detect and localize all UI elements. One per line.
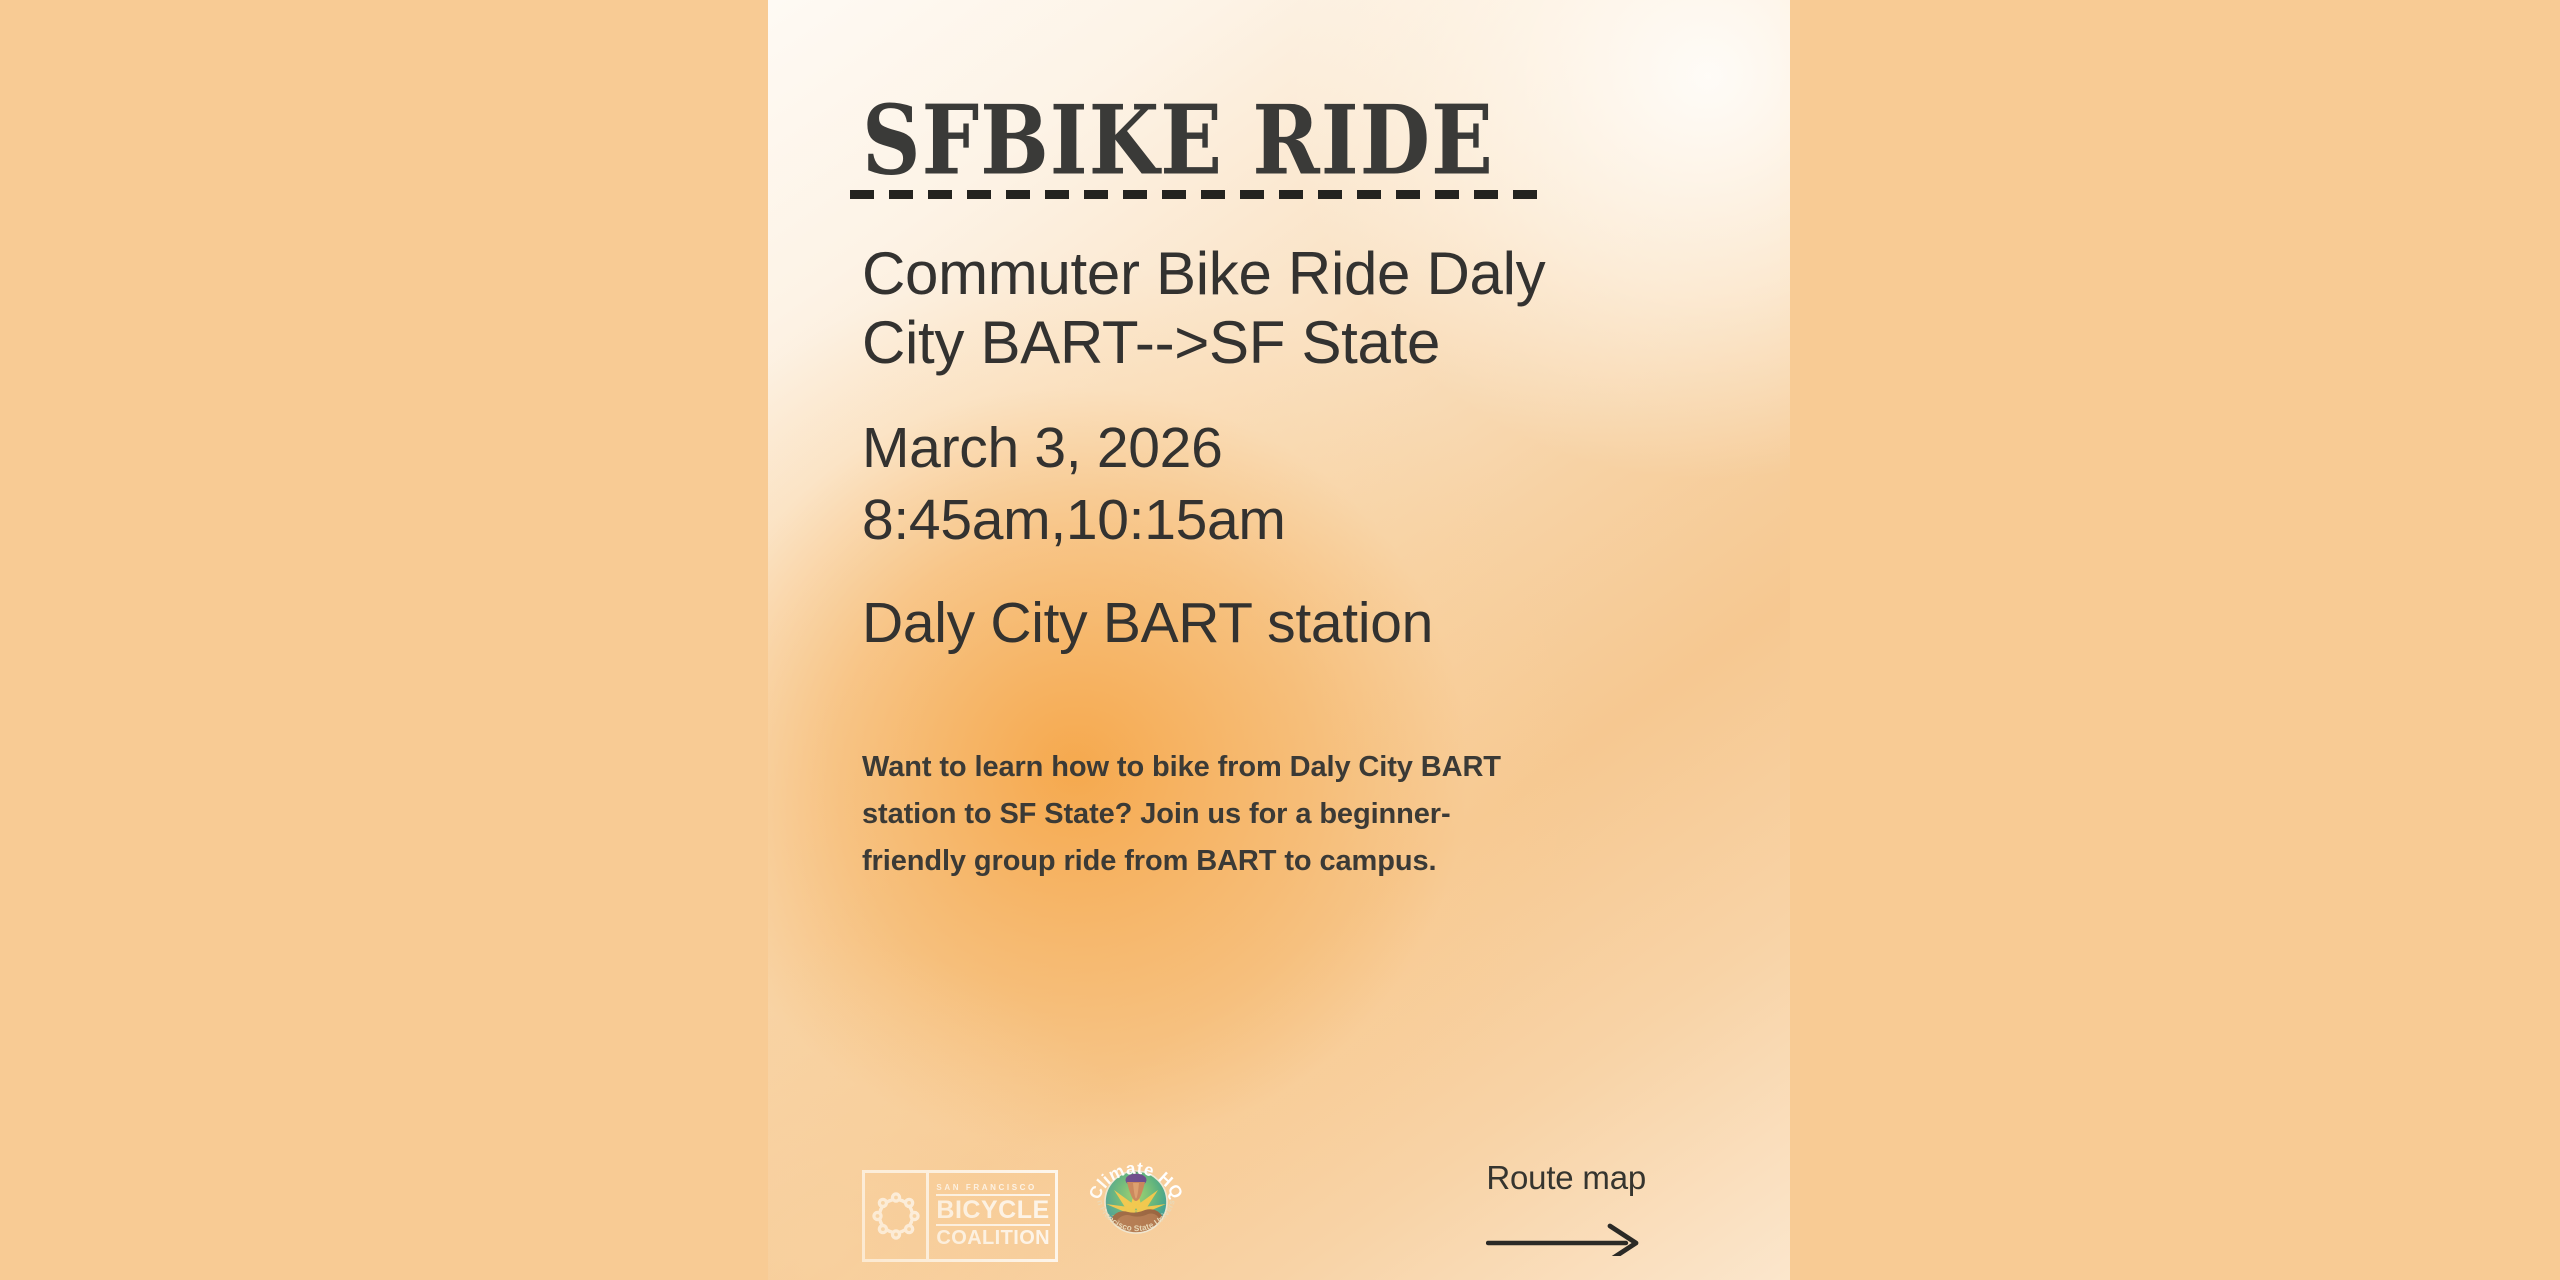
event-venue: Daly City BART station	[862, 557, 1732, 657]
event-datetime: March 3, 2026 8:45am,10:15am	[862, 378, 1732, 557]
event-description: Want to learn how to bike from Daly City…	[862, 686, 1502, 886]
event-headline: Commuter Bike Ride Daly City BART-->SF S…	[862, 199, 1562, 378]
screenshot-canvas: SFBIKE RIDE Commuter Bike Ride Daly City…	[0, 0, 2560, 1280]
event-poster: SFBIKE RIDE Commuter Bike Ride Daly City…	[768, 0, 1790, 1280]
poster-title: SFBIKE RIDE	[862, 0, 1784, 188]
poster-content: SFBIKE RIDE Commuter Bike Ride Daly City…	[768, 0, 1790, 1280]
event-times: 8:45am,10:15am	[862, 484, 1732, 556]
event-date: March 3, 2026	[862, 412, 1732, 484]
